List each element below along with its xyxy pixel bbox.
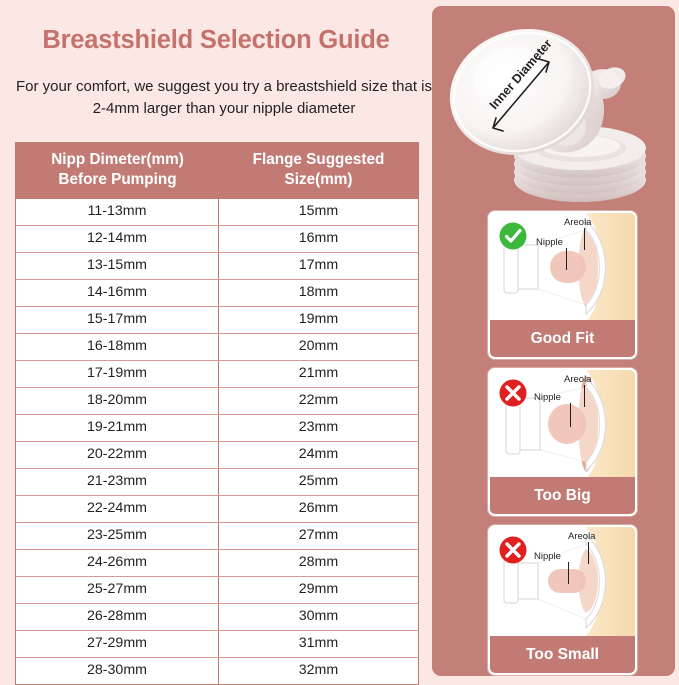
nipple-leader-line — [566, 248, 567, 270]
page-title: Breastshield Selection Guide — [0, 26, 432, 55]
cell-nipple-diameter: 11-13mm — [16, 199, 219, 225]
cell-nipple-diameter: 28-30mm — [16, 658, 219, 684]
fit-card-label: Good Fit — [490, 320, 635, 357]
page-subtitle: For your comfort, we suggest you try a b… — [12, 76, 436, 119]
cell-flange-size: 26mm — [219, 496, 418, 522]
green-check-circle-icon — [498, 221, 528, 251]
cell-nipple-diameter: 26-28mm — [16, 604, 219, 630]
nipple-label: Nipple — [536, 237, 563, 248]
table-row: 18-20mm22mm — [16, 387, 418, 414]
table-row: 11-13mm15mm — [16, 199, 418, 225]
cell-nipple-diameter: 21-23mm — [16, 469, 219, 495]
table-row: 15-17mm19mm — [16, 306, 418, 333]
red-x-circle-icon — [498, 378, 528, 408]
areola-label: Areola — [564, 217, 591, 228]
column-header-flange-size: Flange Suggested Size(mm) — [219, 143, 418, 198]
cell-flange-size: 30mm — [219, 604, 418, 630]
cell-nipple-diameter: 23-25mm — [16, 523, 219, 549]
table-row: 12-14mm16mm — [16, 225, 418, 252]
cell-nipple-diameter: 16-18mm — [16, 334, 219, 360]
column-header-nipple-diameter: Nipp Dimeter(mm) Before Pumping — [16, 143, 219, 198]
cell-nipple-diameter: 17-19mm — [16, 361, 219, 387]
table-row: 19-21mm23mm — [16, 414, 418, 441]
table-row: 20-22mm24mm — [16, 441, 418, 468]
column-header-flange-size-line1: Flange Suggested — [253, 151, 385, 168]
table-body: 11-13mm15mm12-14mm16mm13-15mm17mm14-16mm… — [16, 199, 418, 684]
cell-flange-size: 21mm — [219, 361, 418, 387]
cell-nipple-diameter: 22-24mm — [16, 496, 219, 522]
table-row: 17-19mm21mm — [16, 360, 418, 387]
sizing-table: Nipp Dimeter(mm) Before Pumping Flange S… — [15, 142, 419, 685]
table-row: 22-24mm26mm — [16, 495, 418, 522]
table-row: 24-26mm28mm — [16, 549, 418, 576]
areola-label: Areola — [564, 374, 591, 385]
fit-card-too-big[interactable]: AreolaNippleToo Big — [488, 368, 637, 516]
breastshield-flange-photo: Inner Diameter — [432, 6, 675, 206]
cell-flange-size: 25mm — [219, 469, 418, 495]
table-row: 16-18mm20mm — [16, 333, 418, 360]
table-row: 21-23mm25mm — [16, 468, 418, 495]
fit-card-illustration: AreolaNipple — [490, 213, 635, 320]
breastshield-product-image: Inner Diameter — [432, 6, 675, 206]
areola-label: Areola — [568, 531, 595, 542]
cell-flange-size: 17mm — [219, 253, 418, 279]
areola-leader-line — [588, 542, 589, 564]
cell-nipple-diameter: 15-17mm — [16, 307, 219, 333]
table-row: 27-29mm31mm — [16, 630, 418, 657]
table-row: 25-27mm29mm — [16, 576, 418, 603]
fit-card-too-small[interactable]: AreolaNippleToo Small — [488, 525, 637, 675]
areola-leader-line — [584, 228, 585, 250]
column-header-nipple-diameter-line2: Before Pumping — [58, 171, 176, 188]
cell-flange-size: 29mm — [219, 577, 418, 603]
fit-card-good-fit[interactable]: AreolaNippleGood Fit — [488, 211, 637, 359]
table-row: 14-16mm18mm — [16, 279, 418, 306]
breastshield-selection-guide-page: Breastshield Selection Guide For your co… — [0, 0, 679, 679]
areola-leader-line — [584, 385, 585, 407]
cell-nipple-diameter: 18-20mm — [16, 388, 219, 414]
cell-flange-size: 24mm — [219, 442, 418, 468]
guide-left-column: Breastshield Selection Guide For your co… — [0, 0, 432, 679]
table-row: 13-15mm17mm — [16, 252, 418, 279]
cell-flange-size: 32mm — [219, 658, 418, 684]
fit-card-illustration: AreolaNipple — [490, 370, 635, 477]
cell-flange-size: 18mm — [219, 280, 418, 306]
nipple-label: Nipple — [534, 392, 561, 403]
cell-flange-size: 20mm — [219, 334, 418, 360]
column-header-nipple-diameter-line1: Nipp Dimeter(mm) — [51, 151, 184, 168]
cell-flange-size: 16mm — [219, 226, 418, 252]
cell-flange-size: 23mm — [219, 415, 418, 441]
cell-flange-size: 28mm — [219, 550, 418, 576]
cell-nipple-diameter: 13-15mm — [16, 253, 219, 279]
table-row: 26-28mm30mm — [16, 603, 418, 630]
nipple-label: Nipple — [534, 551, 561, 562]
cell-nipple-diameter: 24-26mm — [16, 550, 219, 576]
nipple-leader-line — [570, 403, 571, 427]
cell-flange-size: 15mm — [219, 199, 418, 225]
nipple-leader-line — [568, 562, 569, 584]
fit-card-illustration: AreolaNipple — [490, 527, 635, 636]
cell-nipple-diameter: 19-21mm — [16, 415, 219, 441]
cell-nipple-diameter: 12-14mm — [16, 226, 219, 252]
illustration-panel: Inner Diameter AreolaNippleGood FitAreol… — [432, 6, 675, 676]
table-row: 23-25mm27mm — [16, 522, 418, 549]
cell-flange-size: 19mm — [219, 307, 418, 333]
cell-flange-size: 27mm — [219, 523, 418, 549]
column-header-flange-size-line2: Size(mm) — [285, 171, 353, 188]
cell-flange-size: 31mm — [219, 631, 418, 657]
cell-nipple-diameter: 25-27mm — [16, 577, 219, 603]
cell-nipple-diameter: 20-22mm — [16, 442, 219, 468]
cell-nipple-diameter: 27-29mm — [16, 631, 219, 657]
fit-card-label: Too Small — [490, 636, 635, 673]
cell-flange-size: 22mm — [219, 388, 418, 414]
fit-card-label: Too Big — [490, 477, 635, 514]
cell-nipple-diameter: 14-16mm — [16, 280, 219, 306]
red-x-circle-icon — [498, 535, 528, 565]
table-row: 28-30mm32mm — [16, 657, 418, 684]
table-header-row: Nipp Dimeter(mm) Before Pumping Flange S… — [16, 143, 418, 199]
